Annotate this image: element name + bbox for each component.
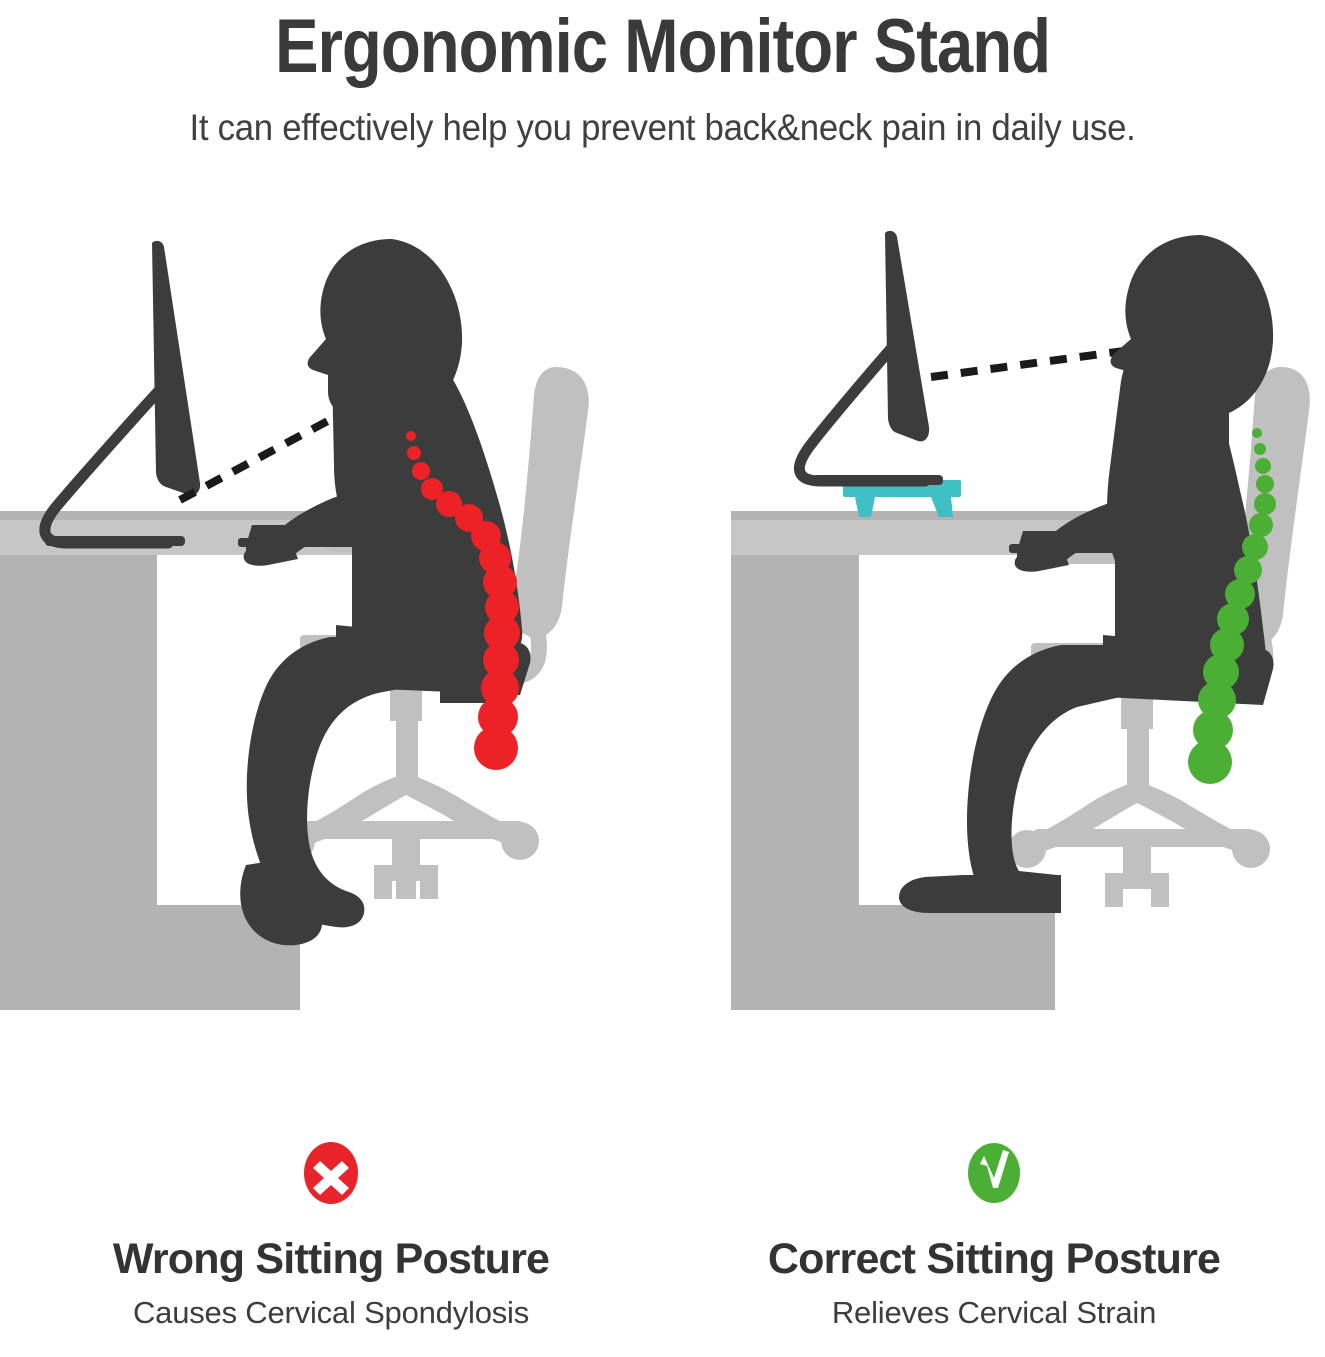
- correct-posture-title: Correct Sitting Posture: [663, 1212, 1325, 1284]
- spine-dot: [1242, 534, 1268, 560]
- cross-circle-icon: [300, 1142, 362, 1212]
- header: Ergonomic Monitor Stand It can effective…: [0, 0, 1325, 150]
- desk-group: [731, 511, 1151, 1010]
- spine-dot: [1188, 740, 1232, 784]
- monitor: [45, 241, 200, 546]
- wrong-posture-illustration: [0, 225, 662, 1025]
- footer-labels: Wrong Sitting Posture Causes Cervical Sp…: [0, 1130, 1325, 1357]
- page-title: Ergonomic Monitor Stand: [93, 0, 1233, 92]
- spine-dot: [1256, 475, 1274, 493]
- check-circle-icon: [963, 1142, 1025, 1212]
- monitor: [799, 231, 943, 485]
- infographic-page: Ergonomic Monitor Stand It can effective…: [0, 0, 1325, 1357]
- spine-dot: [407, 446, 421, 460]
- spine-dot: [412, 462, 430, 480]
- wrong-posture-panel: Wrong Sitting Posture Causes Cervical Sp…: [0, 1130, 662, 1357]
- illustration-row: [0, 225, 1325, 1025]
- spine-dot: [1254, 443, 1266, 455]
- correct-posture-panel: Correct Sitting Posture Relieves Cervica…: [663, 1130, 1325, 1357]
- spine-dot: [406, 431, 416, 441]
- spine-dot: [1252, 428, 1262, 438]
- spine-dot: [1254, 493, 1276, 515]
- spine-dot: [474, 726, 518, 770]
- correct-posture-subtitle: Relieves Cervical Strain: [663, 1284, 1325, 1332]
- spine-dot: [1255, 458, 1271, 474]
- wrong-posture-title: Wrong Sitting Posture: [0, 1212, 662, 1284]
- page-subtitle: It can effectively help you prevent back…: [40, 92, 1286, 150]
- spine-dot: [1249, 513, 1273, 537]
- sightline-dashed: [180, 408, 352, 500]
- correct-posture-illustration: [663, 225, 1325, 1025]
- wrong-posture-subtitle: Causes Cervical Spondylosis: [0, 1284, 662, 1332]
